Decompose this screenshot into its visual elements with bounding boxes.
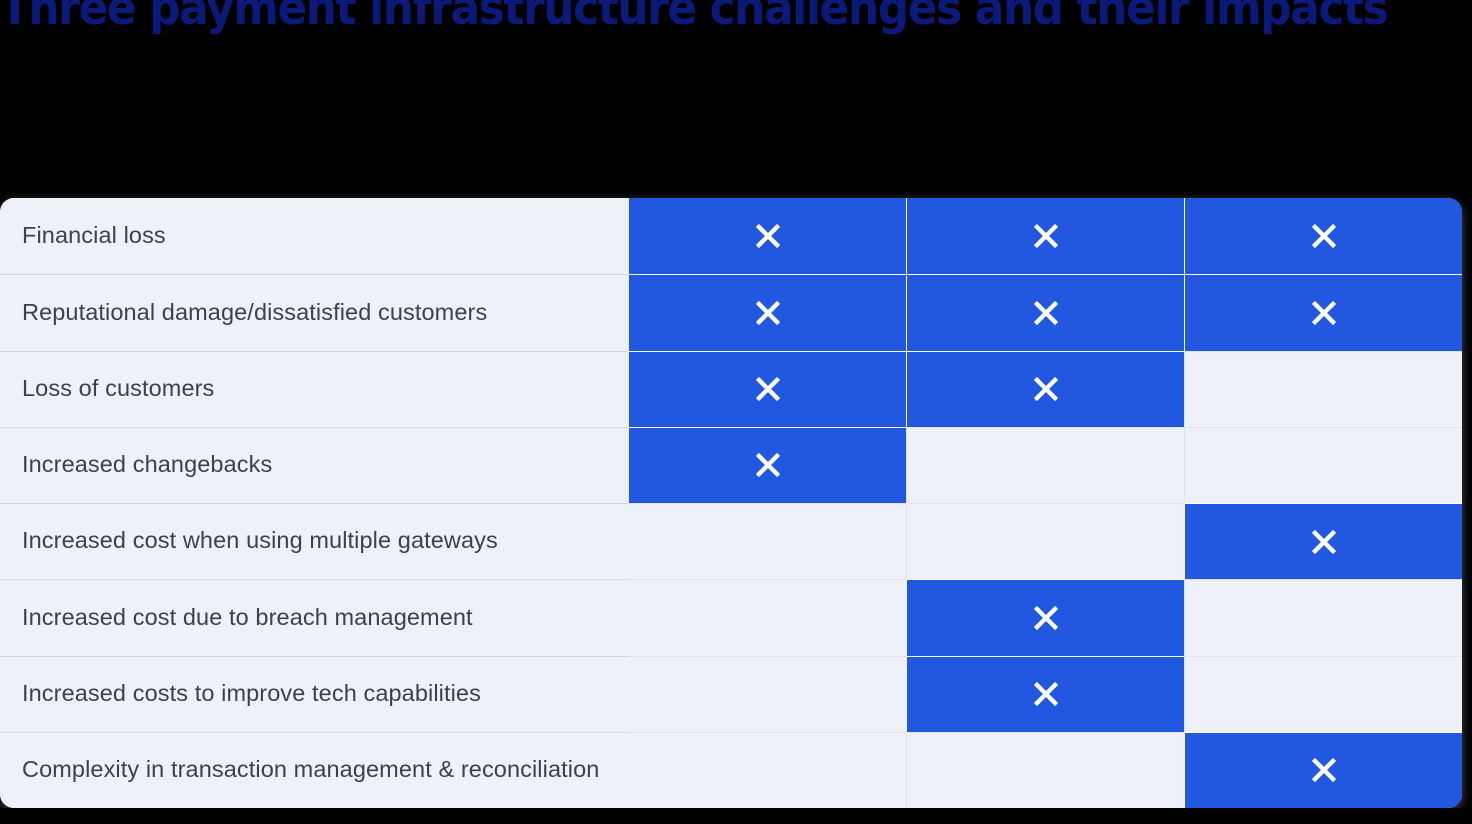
- matrix-cell-marked: [1184, 732, 1462, 808]
- row-cells: [629, 503, 1462, 579]
- table-row: Increased changebacks: [0, 427, 1462, 503]
- matrix-cell-empty: [906, 427, 1184, 503]
- x-mark-icon: [1307, 296, 1341, 330]
- matrix-cell-empty: [1184, 351, 1462, 427]
- matrix-cell-empty: [1184, 579, 1462, 655]
- matrix-cell-empty: [629, 732, 906, 808]
- row-cells: [629, 427, 1462, 503]
- row-label: Increased costs to improve tech capabili…: [0, 656, 629, 732]
- row-label: Increased cost due to breach management: [0, 579, 629, 655]
- table-row: Complexity in transaction management & r…: [0, 732, 1462, 808]
- x-mark-icon: [1029, 372, 1063, 406]
- x-mark-icon: [1307, 219, 1341, 253]
- x-mark-icon: [1307, 525, 1341, 559]
- matrix-cell-marked: [906, 198, 1184, 274]
- x-mark-icon: [1029, 296, 1063, 330]
- matrix-cell-empty: [906, 732, 1184, 808]
- matrix-cell-empty: [906, 503, 1184, 579]
- matrix-cell-empty: [1184, 427, 1462, 503]
- matrix-cell-empty: [629, 503, 906, 579]
- row-cells: [629, 656, 1462, 732]
- row-cells: [629, 198, 1462, 274]
- x-mark-icon: [1029, 677, 1063, 711]
- matrix-cell-marked: [629, 198, 906, 274]
- matrix-cell-marked: [906, 656, 1184, 732]
- matrix-cell-marked: [629, 351, 906, 427]
- row-label: Increased cost when using multiple gatew…: [0, 503, 629, 579]
- x-mark-icon: [1307, 753, 1341, 787]
- row-label: Complexity in transaction management & r…: [0, 732, 629, 808]
- matrix-cell-marked: [629, 274, 906, 350]
- x-mark-icon: [751, 296, 785, 330]
- row-cells: [629, 274, 1462, 350]
- impact-matrix-table: Financial lossReputational damage/dissat…: [0, 198, 1462, 808]
- matrix-cell-marked: [1184, 274, 1462, 350]
- matrix-cell-marked: [629, 427, 906, 503]
- row-cells: [629, 579, 1462, 655]
- bottom-edge: [0, 808, 1472, 824]
- matrix-cell-empty: [629, 656, 906, 732]
- table-row: Financial loss: [0, 198, 1462, 274]
- row-label: Loss of customers: [0, 351, 629, 427]
- x-mark-icon: [1029, 601, 1063, 635]
- x-mark-icon: [751, 448, 785, 482]
- row-label: Increased changebacks: [0, 427, 629, 503]
- matrix-cell-marked: [906, 274, 1184, 350]
- table-row: Increased costs to improve tech capabili…: [0, 656, 1462, 732]
- matrix-cell-marked: [1184, 503, 1462, 579]
- matrix-cell-empty: [629, 579, 906, 655]
- row-label: Reputational damage/dissatisfied custome…: [0, 274, 629, 350]
- table-row: Increased cost due to breach management: [0, 579, 1462, 655]
- table-row: Increased cost when using multiple gatew…: [0, 503, 1462, 579]
- table-row: Loss of customers: [0, 351, 1462, 427]
- table-row: Reputational damage/dissatisfied custome…: [0, 274, 1462, 350]
- x-mark-icon: [751, 372, 785, 406]
- row-cells: [629, 351, 1462, 427]
- row-label: Financial loss: [0, 198, 629, 274]
- x-mark-icon: [751, 219, 785, 253]
- x-mark-icon: [1029, 219, 1063, 253]
- matrix-cell-empty: [1184, 656, 1462, 732]
- matrix-cell-marked: [1184, 198, 1462, 274]
- matrix-cell-marked: [906, 579, 1184, 655]
- row-cells: [629, 732, 1462, 808]
- matrix-cell-marked: [906, 351, 1184, 427]
- page-title: Three payment infrastructure challenges …: [0, 0, 1387, 39]
- title-area: Three payment infrastructure challenges …: [0, 0, 1472, 198]
